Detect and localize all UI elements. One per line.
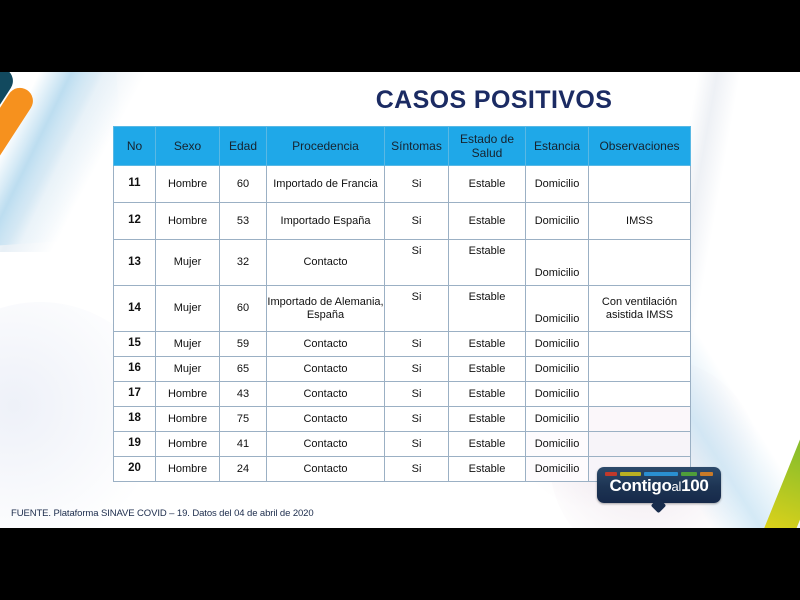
cases-table-wrapper: No Sexo Edad Procedencia Síntomas Estado… [113, 126, 682, 482]
cell-edad: 65 [220, 357, 267, 382]
cell-observaciones [589, 382, 691, 407]
cell-procedencia: Importado España [267, 203, 385, 240]
source-note: FUENTE. Plataforma SINAVE COVID – 19. Da… [11, 508, 314, 519]
cell-no: 12 [114, 203, 156, 240]
table-header-row: No Sexo Edad Procedencia Síntomas Estado… [114, 127, 691, 166]
cell-sexo: Mujer [156, 286, 220, 332]
presentation-slide: CASOS POSITIVOS No Sexo Edad Procedencia… [0, 72, 800, 528]
column-header-no[interactable]: No [114, 127, 156, 166]
cell-edad: 60 [220, 166, 267, 203]
cell-sintomas: Si [385, 382, 449, 407]
cell-no: 13 [114, 240, 156, 286]
cell-no: 15 [114, 332, 156, 357]
cell-estancia: Domicilio [526, 432, 589, 457]
cell-estado-salud: Estable [449, 457, 526, 482]
cell-observaciones: IMSS [589, 203, 691, 240]
table-row[interactable]: 11 Hombre 60 Importado de Francia Si Est… [114, 166, 691, 203]
cell-procedencia: Importado de Francia [267, 166, 385, 203]
cell-sintomas: Si [385, 166, 449, 203]
column-header-sexo[interactable]: Sexo [156, 127, 220, 166]
decorative-bar-teal [0, 72, 18, 287]
cell-estado-salud: Estable [449, 286, 526, 332]
cell-sintomas: Si [385, 332, 449, 357]
cell-edad: 53 [220, 203, 267, 240]
cell-sintomas: Si [385, 357, 449, 382]
cell-observaciones [589, 407, 691, 432]
cell-estado-salud: Estable [449, 240, 526, 286]
cell-sintomas: Si [385, 407, 449, 432]
table-row[interactable]: 16 Mujer 65 Contacto Si Estable Domicili… [114, 357, 691, 382]
cell-no: 11 [114, 166, 156, 203]
cell-no: 16 [114, 357, 156, 382]
logo-word-100: 100 [681, 476, 708, 495]
column-header-estancia[interactable]: Estancia [526, 127, 589, 166]
cell-observaciones [589, 332, 691, 357]
cell-estado-salud: Estable [449, 203, 526, 240]
cell-procedencia: Contacto [267, 432, 385, 457]
cell-sintomas: Si [385, 286, 449, 332]
cell-estancia: Domicilio [526, 203, 589, 240]
cell-sexo: Hombre [156, 166, 220, 203]
cell-procedencia: Contacto [267, 457, 385, 482]
table-body: 11 Hombre 60 Importado de Francia Si Est… [114, 166, 691, 482]
column-header-sintomas[interactable]: Síntomas [385, 127, 449, 166]
cell-no: 14 [114, 286, 156, 332]
cell-estado-salud: Estable [449, 166, 526, 203]
cell-no: 18 [114, 407, 156, 432]
contigo-al-100-logo: Contigoal100 [597, 467, 721, 507]
cell-sexo: Hombre [156, 203, 220, 240]
cell-estancia: Domicilio [526, 457, 589, 482]
cell-observaciones [589, 432, 691, 457]
table-row[interactable]: 12 Hombre 53 Importado España Si Estable… [114, 203, 691, 240]
cell-sexo: Hombre [156, 457, 220, 482]
decorative-swoosh-top-left [0, 72, 128, 247]
cell-procedencia: Contacto [267, 332, 385, 357]
cell-estado-salud: Estable [449, 332, 526, 357]
column-header-estado-salud[interactable]: Estado de Salud [449, 127, 526, 166]
cell-no: 19 [114, 432, 156, 457]
cell-sexo: Hombre [156, 407, 220, 432]
cell-sexo: Mujer [156, 332, 220, 357]
slide-screenshot: CASOS POSITIVOS No Sexo Edad Procedencia… [0, 0, 800, 600]
logo-word-contigo: Contigo [609, 476, 671, 495]
cell-estado-salud: Estable [449, 382, 526, 407]
table-row[interactable]: 18 Hombre 75 Contacto Si Estable Domicil… [114, 407, 691, 432]
logo-word-al: al [672, 479, 682, 494]
letterbox-top [0, 0, 800, 72]
cell-estancia: Domicilio [526, 286, 589, 332]
cell-sexo: Mujer [156, 357, 220, 382]
decorative-bar-green-yellow [743, 367, 800, 528]
cell-procedencia: Importado de Alemania, España [267, 286, 385, 332]
cell-sintomas: Si [385, 240, 449, 286]
column-header-observaciones[interactable]: Observaciones [589, 127, 691, 166]
cell-sintomas: Si [385, 203, 449, 240]
cell-estado-salud: Estable [449, 407, 526, 432]
cell-edad: 75 [220, 407, 267, 432]
cell-estancia: Domicilio [526, 332, 589, 357]
cell-sintomas: Si [385, 432, 449, 457]
letterbox-bottom [0, 528, 800, 600]
cell-procedencia: Contacto [267, 407, 385, 432]
cell-estancia: Domicilio [526, 166, 589, 203]
cell-estancia: Domicilio [526, 357, 589, 382]
cell-sexo: Hombre [156, 382, 220, 407]
cell-observaciones [589, 357, 691, 382]
decorative-bar-orange [0, 83, 38, 307]
column-header-edad[interactable]: Edad [220, 127, 267, 166]
table-row[interactable]: 17 Hombre 43 Contacto Si Estable Domicil… [114, 382, 691, 407]
table-row[interactable]: 15 Mujer 59 Contacto Si Estable Domicili… [114, 332, 691, 357]
cell-edad: 24 [220, 457, 267, 482]
cell-edad: 43 [220, 382, 267, 407]
cell-sexo: Hombre [156, 432, 220, 457]
cell-edad: 41 [220, 432, 267, 457]
table-header: No Sexo Edad Procedencia Síntomas Estado… [114, 127, 691, 166]
page-title: CASOS POSITIVOS [334, 86, 654, 115]
cell-estancia: Domicilio [526, 407, 589, 432]
cell-estancia: Domicilio [526, 240, 589, 286]
table-row[interactable]: 19 Hombre 41 Contacto Si Estable Domicil… [114, 432, 691, 457]
cell-estado-salud: Estable [449, 357, 526, 382]
cell-edad: 32 [220, 240, 267, 286]
cell-sintomas: Si [385, 457, 449, 482]
cell-no: 20 [114, 457, 156, 482]
cell-procedencia: Contacto [267, 357, 385, 382]
cell-observaciones [589, 240, 691, 286]
cell-edad: 60 [220, 286, 267, 332]
table-row[interactable]: 13 Mujer 32 Contacto Si Estable Domicili… [114, 240, 691, 286]
logo-wordmark: Contigoal100 [597, 476, 721, 496]
cell-procedencia: Contacto [267, 382, 385, 407]
cell-estancia: Domicilio [526, 382, 589, 407]
positive-cases-table: No Sexo Edad Procedencia Síntomas Estado… [113, 126, 691, 482]
cell-no: 17 [114, 382, 156, 407]
cell-observaciones [589, 166, 691, 203]
cell-sexo: Mujer [156, 240, 220, 286]
cell-observaciones: Con ventilación asistida IMSS [589, 286, 691, 332]
table-row[interactable]: 14 Mujer 60 Importado de Alemania, Españ… [114, 286, 691, 332]
cell-estado-salud: Estable [449, 432, 526, 457]
cell-edad: 59 [220, 332, 267, 357]
column-header-procedencia[interactable]: Procedencia [267, 127, 385, 166]
cell-procedencia: Contacto [267, 240, 385, 286]
